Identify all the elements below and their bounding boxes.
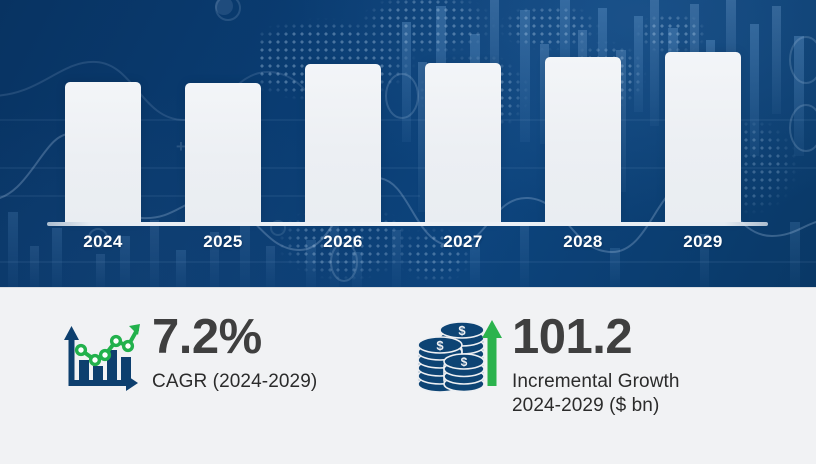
bar-chart-growth-icon-svg [50, 314, 142, 398]
stats-panel: 7.2% CAGR (2024-2029) [0, 287, 816, 464]
svg-text:$: $ [436, 338, 444, 353]
bar-chart-growth-icon [48, 310, 144, 402]
bars-layer: 2024 2025 2026 2027 2028 2029 [0, 0, 816, 287]
svg-text:$: $ [458, 323, 466, 338]
x-axis-label-2025: 2025 [163, 232, 283, 252]
stat-cagr: 7.2% CAGR (2024-2029) [48, 310, 317, 402]
x-axis-label-2024: 2024 [43, 232, 163, 252]
stat-incremental-growth-value: 101.2 [512, 313, 680, 361]
stat-cagr-text: 7.2% CAGR (2024-2029) [152, 310, 317, 394]
bar-2025 [185, 83, 261, 222]
x-axis-label-2027: 2027 [403, 232, 523, 252]
x-axis-label-2026: 2026 [283, 232, 403, 252]
bar-2027 [425, 63, 501, 222]
x-axis-label-2028: 2028 [523, 232, 643, 252]
stat-incremental-growth-caption: Incremental Growth 2024-2029 ($ bn) [512, 370, 680, 419]
stat-incremental-growth-text: 101.2 Incremental Growth 2024-2029 ($ bn… [512, 310, 680, 419]
coin-stacks-up-arrow-icon: $ $ $ [412, 310, 504, 402]
coin-stacks-up-arrow-icon-svg: $ $ $ [414, 314, 502, 398]
bar-2028 [545, 57, 621, 222]
stat-cagr-caption: CAGR (2024-2029) [152, 370, 317, 394]
svg-text:$: $ [461, 355, 468, 369]
x-axis-label-2029: 2029 [643, 232, 763, 252]
bar-chart-panel: +1.0% 2024 2025 2026 2027 2028 2029 [0, 0, 816, 287]
stat-incremental-growth: $ $ $ 101.2 Incremental Growth 2024-2029… [412, 310, 680, 419]
bar-2026 [305, 64, 381, 222]
market-growth-infographic: +1.0% 2024 2025 2026 2027 2028 2029 [0, 0, 816, 464]
x-axis-line [47, 222, 768, 226]
stat-cagr-value: 7.2% [152, 313, 317, 361]
bar-2024 [65, 82, 141, 222]
bar-2029 [665, 52, 741, 222]
